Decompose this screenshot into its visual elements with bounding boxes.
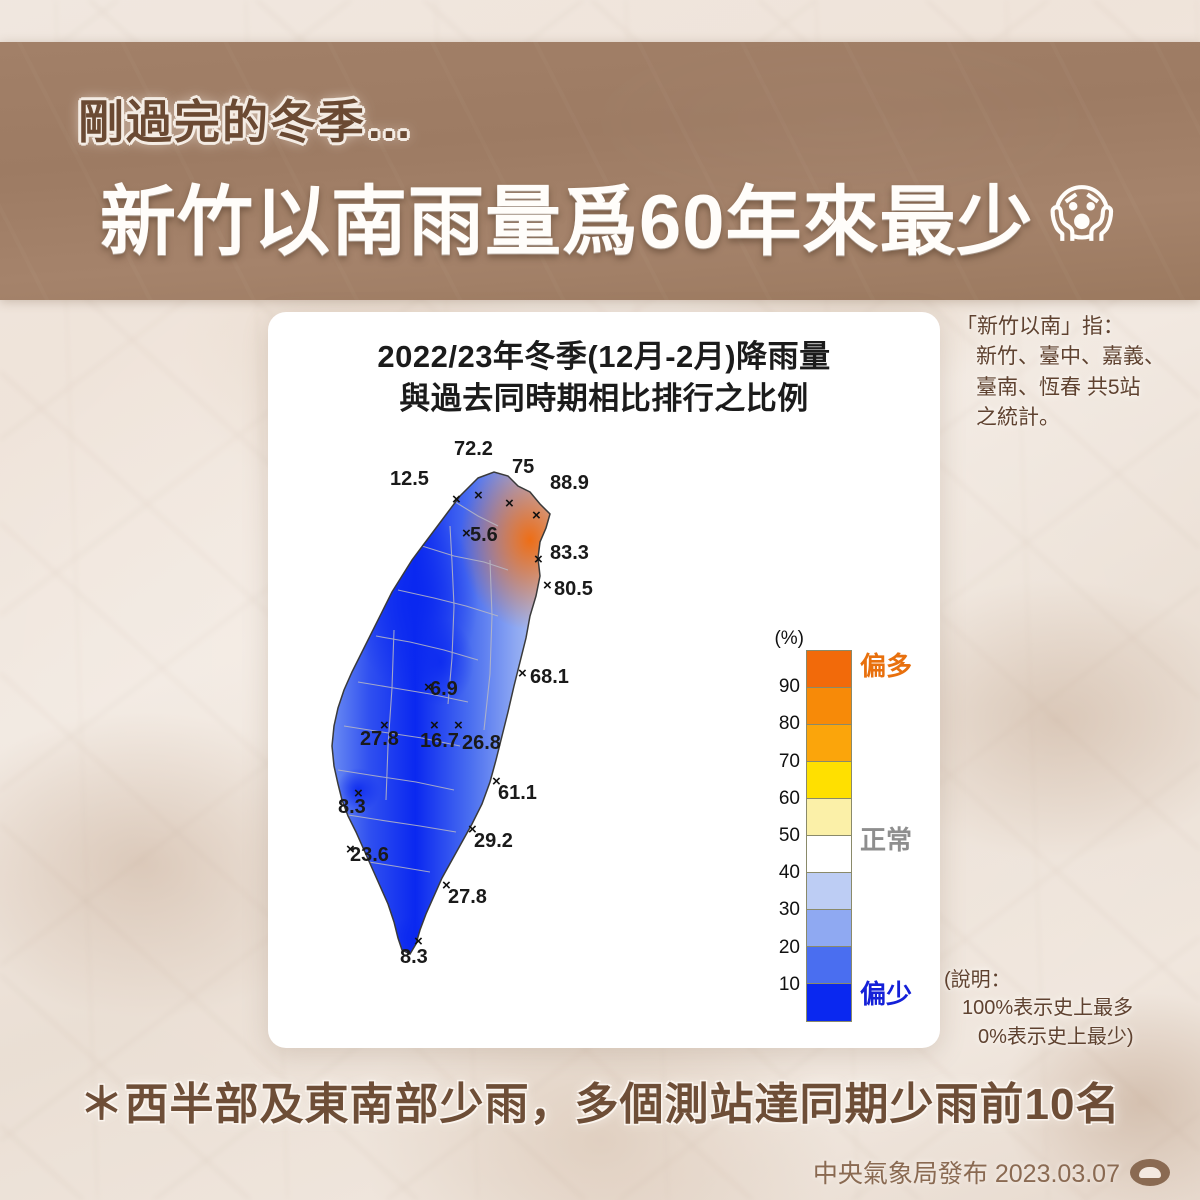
station-value-label: 8.3 [400,946,428,969]
station-marker: × [534,552,543,567]
screaming-face-icon: 😱 [1050,184,1116,246]
colorbar-label-above-normal: 偏多 [860,646,912,683]
colorbar-segment-7 [807,910,851,947]
header-kicker: 剛過完的冬季… [78,86,414,152]
explanation-note-line-1: (說明： [944,966,1196,994]
chart-title-line-2: 與過去同時期相比排行之比例 [268,378,940,420]
station-marker: × [518,666,527,681]
station-value-label: 75 [512,456,534,479]
station-value-label: 88.9 [550,472,589,495]
colorbar-tick-20: 20 [779,937,800,959]
station-marker: × [454,718,463,733]
station-marker: × [532,508,541,523]
colorbar-tick-90: 90 [779,676,800,698]
station-value-label: 8.3 [338,796,366,819]
colorbar-legend: (%) 908070605040302010 偏多 正常 偏少 [760,642,920,1042]
station-marker: × [543,578,552,593]
colorbar-label-below-normal: 偏少 [860,974,912,1011]
definition-note-line-2: 新竹、臺中、嘉義、 [956,342,1196,372]
station-value-label: 29.2 [474,830,513,853]
station-value-label: 5.6 [470,524,498,547]
colorbar-tick-50: 50 [779,825,800,847]
station-value-label: 83.3 [550,542,589,565]
station-value-label: 23.6 [350,844,389,867]
station-value-label: 12.5 [390,468,429,491]
station-marker: × [505,496,514,511]
colorbar-segment-6 [807,873,851,910]
colorbar-label-normal: 正常 [860,820,912,857]
station-value-label: 68.1 [530,666,569,689]
colorbar-tick-30: 30 [779,899,800,921]
station-value-label: 26.8 [462,732,501,755]
bottom-caption: ＊西半部及東南部少雨，多個測站達同期少雨前10名 [0,1068,1200,1132]
station-value-label: 27.8 [448,886,487,909]
station-value-label: 61.1 [498,782,537,805]
credit-line: 中央氣象局發布 2023.03.07 [813,1154,1170,1190]
colorbar-segment-2 [807,725,851,762]
credit-text: 中央氣象局發布 2023.03.07 [813,1154,1120,1190]
colorbar-tick-40: 40 [779,862,800,884]
definition-note-line-4: 之統計。 [956,403,1196,433]
cwb-logo-icon [1130,1159,1170,1186]
definition-note: 「新竹以南」指： 新竹、臺中、嘉義、 臺南、恆春 共5站 之統計。 [956,312,1196,434]
colorbar-segment-1 [807,688,851,725]
colorbar-segment-5 [807,836,851,873]
station-value-label: 6.9 [430,678,458,701]
colorbar-tick-labels: 908070605040302010 [760,650,802,1022]
explanation-note-line-3: 0%表示史上最少) [944,1023,1196,1051]
colorbar-segment-3 [807,762,851,799]
colorbar-tick-10: 10 [779,974,800,996]
header-headline: 新竹以南雨量爲60年來最少 😱 [100,160,1115,270]
headline-text: 新竹以南雨量爲60年來最少 [100,160,1034,270]
colorbar-unit-label: (%) [760,628,804,650]
station-value-label: 72.2 [454,438,493,461]
taiwan-rainfall-map: ×12.5×72.2×75×88.9×5.6×83.3×80.5×68.1×6.… [302,430,722,1030]
station-value-label: 80.5 [554,578,593,601]
definition-note-line-3: 臺南、恆春 共5站 [956,373,1196,403]
chart-title: 2022/23年冬季(12月-2月)降雨量 與過去同時期相比排行之比例 [268,336,940,419]
colorbar-segment-4 [807,799,851,836]
colorbar-tick-70: 70 [779,751,800,773]
chart-card: 2022/23年冬季(12月-2月)降雨量 與過去同時期相比排行之比例 [268,312,940,1048]
station-marker: × [474,488,483,503]
explanation-note-line-2: 100%表示史上最多 [944,994,1196,1022]
station-value-label: 27.8 [360,728,399,751]
definition-note-line-1: 「新竹以南」指： [956,312,1196,342]
colorbar-segment-8 [807,947,851,984]
chart-title-line-1: 2022/23年冬季(12月-2月)降雨量 [268,336,940,378]
explanation-note: (說明： 100%表示史上最多 0%表示史上最少) [944,966,1196,1051]
colorbar-segment-0 [807,651,851,688]
colorbar-tick-60: 60 [779,788,800,810]
colorbar-strip [806,650,852,1022]
station-marker: × [452,492,461,507]
colorbar-segment-9 [807,984,851,1021]
colorbar-tick-80: 80 [779,713,800,735]
